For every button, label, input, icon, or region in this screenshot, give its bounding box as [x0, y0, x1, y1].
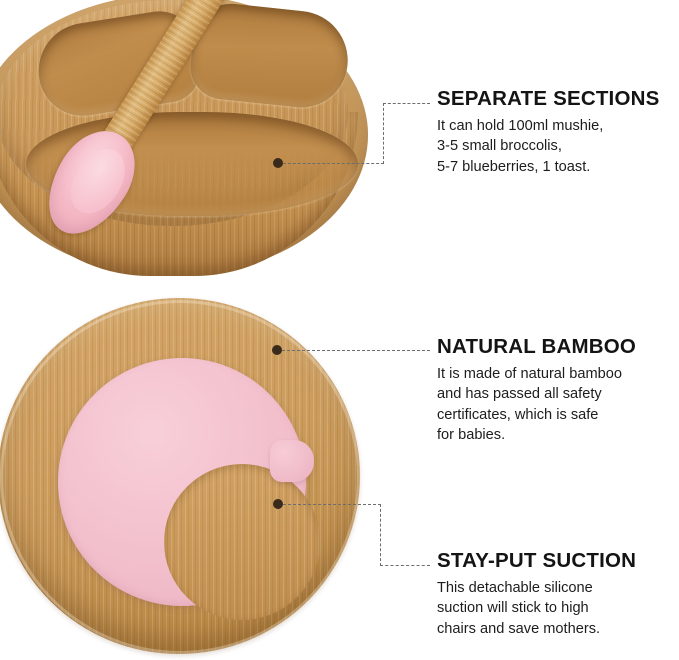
- callout-natural-bamboo: NATURAL BAMBOO It is made of natural bam…: [437, 336, 679, 446]
- product-image-bottom-plate: [0, 298, 362, 656]
- leader-line-separate-sections-horizontal-lower: [283, 163, 384, 164]
- bamboo-plate-bottom: [0, 298, 360, 654]
- leader-line-stay-put-vertical: [380, 504, 381, 566]
- suction-release-tab: [270, 440, 314, 482]
- callout-separate-sections: SEPARATE SECTIONS It can hold 100ml mush…: [437, 88, 679, 177]
- leader-line-stay-put-horizontal-lower: [380, 565, 430, 566]
- leader-line-separate-sections-horizontal-upper: [383, 103, 430, 104]
- callout-heading-separate-sections: SEPARATE SECTIONS: [437, 88, 679, 110]
- callout-body-stay-put-suction: This detachable silicone suction will st…: [437, 578, 679, 640]
- callout-body-natural-bamboo: It is made of natural bamboo and has pas…: [437, 364, 679, 446]
- callout-dot-separate-sections: [273, 158, 283, 168]
- callout-dot-natural-bamboo: [272, 345, 282, 355]
- callout-dot-stay-put-suction: [273, 499, 283, 509]
- pink-silicone-suction-ring: [58, 358, 306, 606]
- product-image-top-plate: [0, 0, 368, 284]
- leader-line-natural-bamboo: [282, 350, 430, 351]
- infographic-page: SEPARATE SECTIONS It can hold 100ml mush…: [0, 0, 679, 660]
- callout-heading-stay-put-suction: STAY-PUT SUCTION: [437, 550, 679, 572]
- leader-line-separate-sections-vertical: [383, 103, 384, 164]
- suction-ring-opening: [164, 464, 320, 620]
- callout-body-separate-sections: It can hold 100ml mushie, 3-5 small broc…: [437, 116, 679, 178]
- callout-stay-put-suction: STAY-PUT SUCTION This detachable silicon…: [437, 550, 679, 639]
- leader-line-stay-put-horizontal-upper: [283, 504, 381, 505]
- callout-heading-natural-bamboo: NATURAL BAMBOO: [437, 336, 679, 358]
